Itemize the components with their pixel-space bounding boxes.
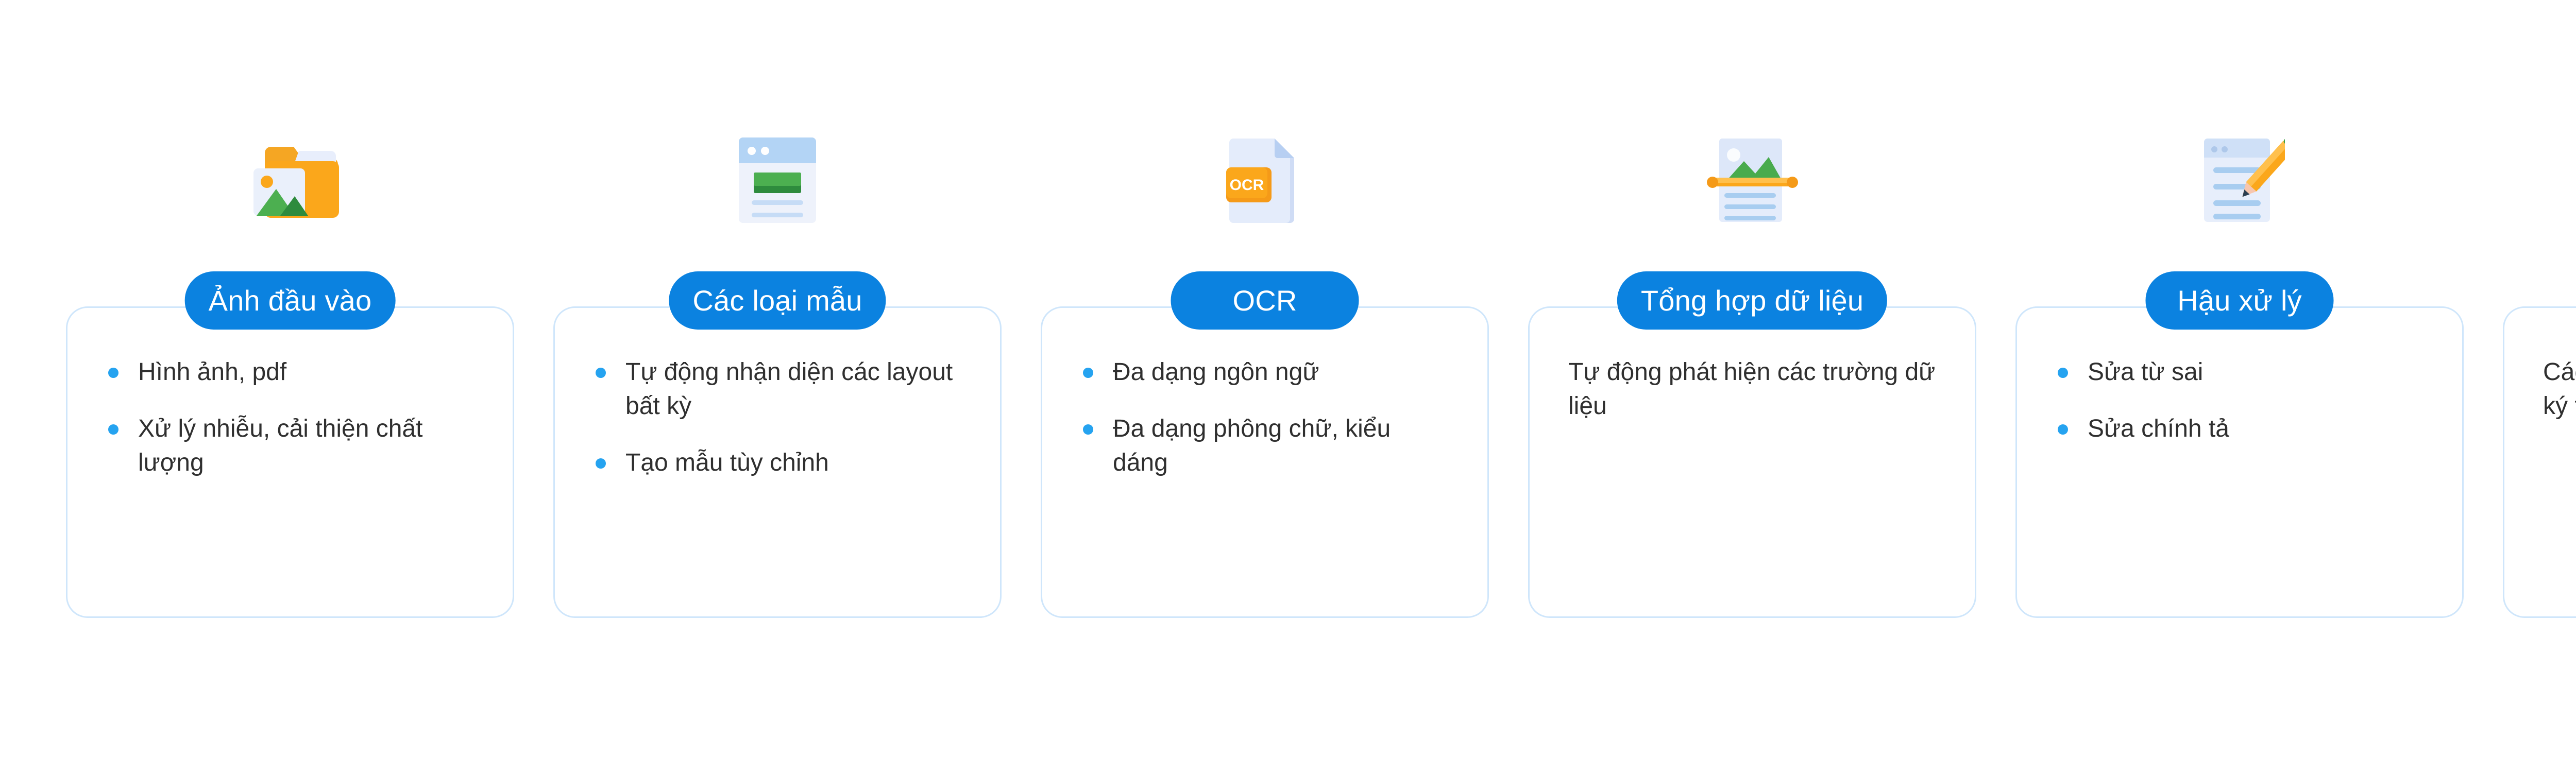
step-badge-5[interactable]: Hậu xử lý xyxy=(2146,271,2334,330)
list-item: Tự động nhận diện các layout bất kỳ xyxy=(594,355,963,423)
step-badge-4[interactable]: Tổng hợp dữ liệu xyxy=(1617,271,1887,330)
bullet-text: Tạo mẫu tùy chỉnh xyxy=(625,449,829,476)
template-window-icon xyxy=(553,129,1002,232)
step-bullet-list-1: Hình ảnh, pdf Xử lý nhiễu, cải thiện chấ… xyxy=(106,355,476,480)
step-badge-label: Hậu xử lý xyxy=(2177,286,2302,315)
step-badge-label: OCR xyxy=(1232,286,1297,315)
bullet-text: Đa dạng ngôn ngữ xyxy=(1113,358,1319,386)
pipeline-step-1: Ảnh đầu vào Hình ảnh, pdf Xử lý nhiễu, c… xyxy=(66,0,514,758)
bullet-dot-icon xyxy=(596,458,606,469)
step-badge-label: Các loại mẫu xyxy=(692,286,862,315)
step-badge-label: Tổng hợp dữ liệu xyxy=(1641,286,1863,315)
bullet-text: Sửa từ sai xyxy=(2088,358,2203,386)
step-card-6 xyxy=(2503,306,2576,618)
result-document-icon xyxy=(2503,129,2576,232)
bullet-text: Xử lý nhiễu, cải thiện chất lượng xyxy=(138,415,422,476)
bullet-text: Tự động nhận diện các layout bất kỳ xyxy=(625,358,953,420)
step-body-5: Sửa từ sai Sửa chính tả xyxy=(2015,355,2464,446)
bullet-dot-icon xyxy=(108,368,118,378)
bullet-dot-icon xyxy=(1083,368,1093,378)
list-item: Hình ảnh, pdf xyxy=(106,355,476,389)
step-badge-1[interactable]: Ảnh đầu vào xyxy=(185,271,396,330)
step-card-5 xyxy=(2015,306,2464,618)
pipeline-step-3: OCR OCR Đa dạng ngôn ngữ Đa dạng phông c… xyxy=(1041,0,1489,758)
ocr-pipeline-diagram: Ảnh đầu vào Hình ảnh, pdf Xử lý nhiễu, c… xyxy=(0,0,2576,758)
bullet-dot-icon xyxy=(2058,368,2068,378)
step-badge-2[interactable]: Các loại mẫu xyxy=(669,271,886,330)
step-body-4: Tự động phát hiện các trường dữ liệu xyxy=(1528,355,1976,423)
ocr-document-icon: OCR xyxy=(1041,129,1489,232)
pipeline-step-5: Hậu xử lý Sửa từ sai Sửa chính tả xyxy=(2015,0,2464,758)
list-item: Đa dạng phông chữ, kiểu dáng xyxy=(1081,412,1451,480)
bullet-dot-icon xyxy=(596,368,606,378)
image-folder-icon xyxy=(66,129,514,232)
step-bullet-list-2: Tự động nhận diện các layout bất kỳ Tạo … xyxy=(594,355,963,480)
pipeline-step-4: Tổng hợp dữ liệu Tự động phát hiện các t… xyxy=(1528,0,1976,758)
document-pencil-icon xyxy=(2015,129,2464,232)
step-bullet-list-3: Đa dạng ngôn ngữ Đa dạng phông chữ, kiểu… xyxy=(1081,355,1451,480)
list-item: Tạo mẫu tùy chỉnh xyxy=(594,446,963,480)
step-body-text: Tự động phát hiện các trường dữ liệu xyxy=(1568,355,1938,423)
scanner-icon xyxy=(1528,129,1976,232)
pipeline-step-2: Các loại mẫu Tự động nhận diện các layou… xyxy=(553,0,1002,758)
step-bullet-list-5: Sửa từ sai Sửa chính tả xyxy=(2056,355,2426,446)
bullet-text: Đa dạng phông chữ, kiểu dáng xyxy=(1113,415,1391,476)
list-item: Đa dạng ngôn ngữ xyxy=(1081,355,1451,389)
list-item: Sửa từ sai xyxy=(2056,355,2426,389)
pipeline-step-6: Kết quả Các giá trị trích xuất dưới dạng… xyxy=(2503,0,2576,758)
step-body-text: Các giá trị trích xuất dưới dạng ký tự xyxy=(2543,355,2576,423)
bullet-dot-icon xyxy=(2058,424,2068,435)
step-card-4 xyxy=(1528,306,1976,618)
bullet-text: Sửa chính tả xyxy=(2088,415,2229,442)
step-body-2: Tự động nhận diện các layout bất kỳ Tạo … xyxy=(553,355,1002,480)
step-body-1: Hình ảnh, pdf Xử lý nhiễu, cải thiện chấ… xyxy=(66,355,514,480)
list-item: Sửa chính tả xyxy=(2056,412,2426,446)
step-body-3: Đa dạng ngôn ngữ Đa dạng phông chữ, kiểu… xyxy=(1041,355,1489,480)
step-badge-3[interactable]: OCR xyxy=(1171,271,1359,330)
step-badge-label: Ảnh đầu vào xyxy=(209,286,372,315)
list-item: Xử lý nhiễu, cải thiện chất lượng xyxy=(106,412,476,480)
bullet-dot-icon xyxy=(108,424,118,435)
step-body-6: Các giá trị trích xuất dưới dạng ký tự xyxy=(2503,355,2576,423)
bullet-dot-icon xyxy=(1083,424,1093,435)
svg-text:OCR: OCR xyxy=(1230,177,1264,194)
bullet-text: Hình ảnh, pdf xyxy=(138,358,286,386)
